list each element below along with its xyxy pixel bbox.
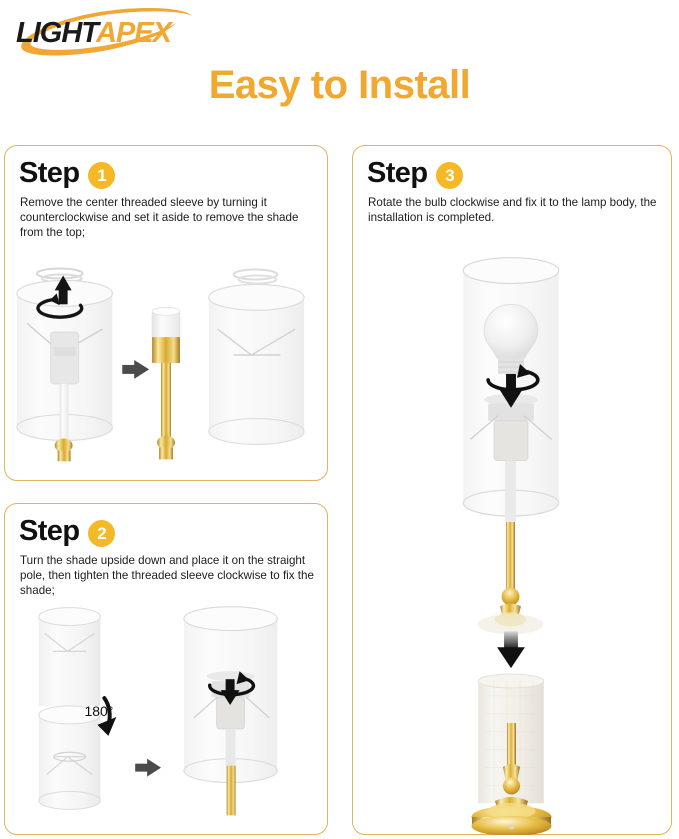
gold-pole	[161, 363, 171, 439]
step-card-3: Step 3 Rotate the bulb clockwise and fix…	[352, 145, 672, 835]
step-card-1: Step 1 Remove the center threaded sleeve…	[4, 145, 328, 481]
pole-gold-ball-2	[157, 435, 175, 449]
page-title: Easy to Install	[0, 62, 679, 108]
white-pole-3	[505, 461, 516, 523]
lamp-socket	[51, 332, 79, 384]
socket-body-3	[494, 421, 528, 461]
shade-upright-group	[39, 607, 101, 705]
threaded-sleeve-on-pole-group	[152, 307, 180, 459]
pole-gold-ball	[55, 438, 73, 452]
logo-graphic: LIGHT APEX	[8, 6, 198, 58]
sleeve-top	[152, 307, 180, 315]
step-2-illustration: 180°	[5, 603, 327, 818]
assembled-shade-top-rim	[184, 606, 277, 630]
finished-lamp-group	[478, 674, 544, 803]
pole-gold-neck	[58, 450, 71, 461]
down-transition-arrow	[497, 632, 525, 669]
sleeve-gold-collar	[152, 337, 180, 363]
step-2-badge: 2	[88, 520, 115, 547]
logo-text-apex: APEX	[95, 17, 174, 49]
linen-shade-top-rim	[478, 674, 544, 688]
step-1-illustration	[5, 247, 327, 462]
gold-pole-3	[506, 522, 515, 590]
right-arrow	[135, 758, 161, 776]
rotation-angle-label: 180°	[85, 703, 114, 719]
step-card-2: Step 2 Turn the shade upside down and pl…	[4, 503, 328, 835]
step-1-description: Remove the center threaded sleeve by tur…	[5, 189, 327, 241]
step-3-description: Rotate the bulb clockwise and fix it to …	[353, 189, 671, 225]
step-3-illustration	[353, 227, 671, 817]
step-1-header: Step 1	[5, 146, 327, 189]
gold-pole-lower	[227, 765, 236, 815]
socket-band	[54, 347, 76, 356]
detached-shade-top-rim	[209, 284, 304, 310]
lamp-pole-white	[60, 383, 69, 442]
step-3-word: Step	[367, 158, 427, 189]
lamp-base-dome-3	[495, 613, 527, 627]
step-3-header: Step 3	[353, 146, 671, 189]
shade-on-pole-group	[184, 606, 277, 815]
right-arrow	[122, 360, 149, 379]
gold-ornament-ball-3	[502, 588, 520, 606]
pole-gold-neck-2	[159, 447, 173, 459]
brand-logo: LIGHT APEX	[8, 6, 198, 58]
shade-upright	[39, 616, 101, 705]
step-1-badge: 1	[88, 162, 115, 189]
step-2-header: Step 2	[5, 504, 327, 547]
shade-upright-top-rim	[39, 607, 101, 625]
shade-flipped	[39, 715, 101, 809]
bulb-glass	[484, 305, 538, 359]
step-2-word: Step	[19, 516, 79, 547]
logo-text-light: LIGHT	[16, 17, 101, 49]
shade-flipped-group	[39, 706, 101, 809]
linen-shade	[478, 681, 544, 803]
step-3-badge: 3	[436, 162, 463, 189]
white-pole-upper	[226, 728, 236, 765]
step-1-word: Step	[19, 158, 79, 189]
step-2-description: Turn the shade upside down and place it …	[5, 547, 327, 599]
lamp-with-bulb-group	[463, 258, 558, 635]
detached-shade-group	[209, 269, 304, 444]
lamp-with-shade-group	[17, 268, 112, 461]
shade-top-rim-3	[463, 258, 558, 284]
